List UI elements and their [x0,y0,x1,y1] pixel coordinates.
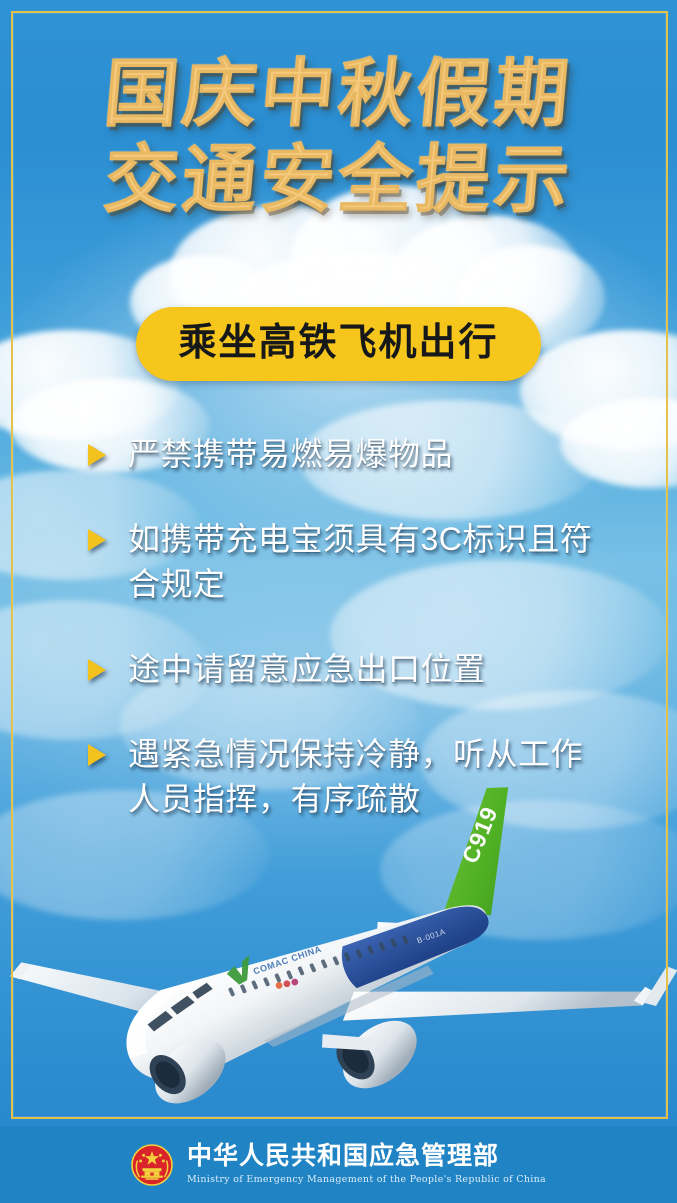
subtitle-pill-label: 乘坐高铁飞机出行 [136,307,540,381]
national-emblem-icon [131,1144,173,1186]
list-item: 遇紧急情况保持冷静，听从工作人员指挥，有序疏散 [88,732,615,822]
safety-tips-list: 严禁携带易燃易爆物品 如携带充电宝须具有3C标识且符合规定 途中请留意应急出口位… [88,432,615,822]
triangle-right-icon [88,659,106,681]
list-item-text: 如携带充电宝须具有3C标识且符合规定 [128,517,615,607]
list-item-text: 遇紧急情况保持冷静，听从工作人员指挥，有序疏散 [128,732,615,822]
triangle-right-icon [88,529,106,551]
ministry-name-cn: 中华人民共和国应急管理部 [187,1144,499,1169]
list-item: 严禁携带易燃易爆物品 [88,432,615,477]
ministry-name-en: Ministry of Emergency Management of the … [187,1175,546,1185]
triangle-right-icon [88,444,106,466]
triangle-right-icon [88,744,106,766]
list-item: 如携带充电宝须具有3C标识且符合规定 [88,517,615,607]
title-line-1: 国庆中秋假期 [0,52,677,136]
title-line-2: 交通安全提示 [0,138,677,222]
list-item: 途中请留意应急出口位置 [88,647,615,692]
page-title: 国庆中秋假期 交通安全提示 [0,52,677,222]
footer-text-block: 中华人民共和国应急管理部 Ministry of Emergency Manag… [187,1144,546,1185]
list-item-text: 途中请留意应急出口位置 [128,647,615,692]
subtitle-banner: 乘坐高铁飞机出行 [0,307,677,381]
list-item-text: 严禁携带易燃易爆物品 [128,432,615,477]
footer-content: 中华人民共和国应急管理部 Ministry of Emergency Manag… [131,1144,546,1186]
footer-bar: 中华人民共和国应急管理部 Ministry of Emergency Manag… [0,1126,677,1203]
poster-root: C919 [0,0,677,1203]
